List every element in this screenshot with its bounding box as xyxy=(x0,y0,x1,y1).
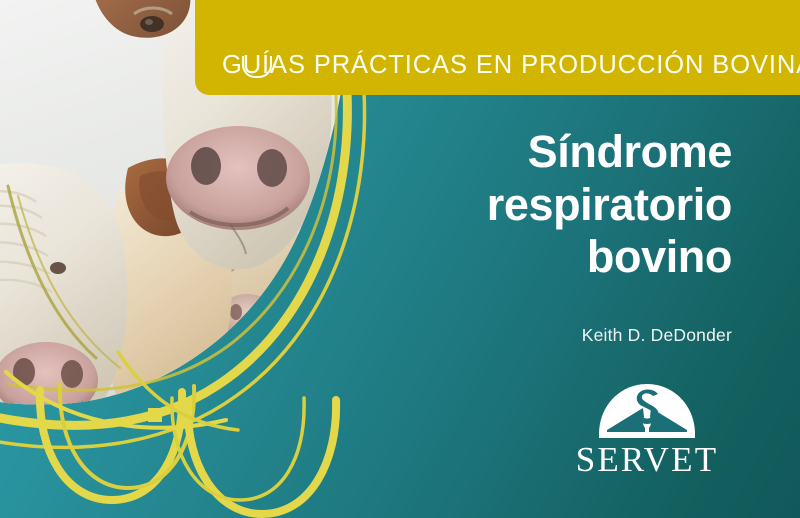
page-title: Síndrome respiratorio bovino xyxy=(292,126,732,284)
title-line-2: respiratorio xyxy=(292,179,732,232)
title-line-1: Síndrome xyxy=(292,126,732,179)
title-line-3: bovino xyxy=(292,231,732,284)
publisher-wordmark: SERVET xyxy=(562,442,732,477)
series-banner: GUÍAS PRÁCTICAS EN PRODUCCIÓN BOVINA xyxy=(195,0,800,95)
author-name: Keith D. DeDonder xyxy=(292,325,732,346)
banner-u-swoosh-icon xyxy=(242,56,272,78)
publisher-logo: SERVET xyxy=(562,378,732,477)
servet-dome-icon xyxy=(595,378,699,440)
book-cover: GUÍAS PRÁCTICAS EN PRODUCCIÓN BOVINA Sín… xyxy=(0,0,800,518)
series-banner-label: GUÍAS PRÁCTICAS EN PRODUCCIÓN BOVINA xyxy=(222,51,800,80)
